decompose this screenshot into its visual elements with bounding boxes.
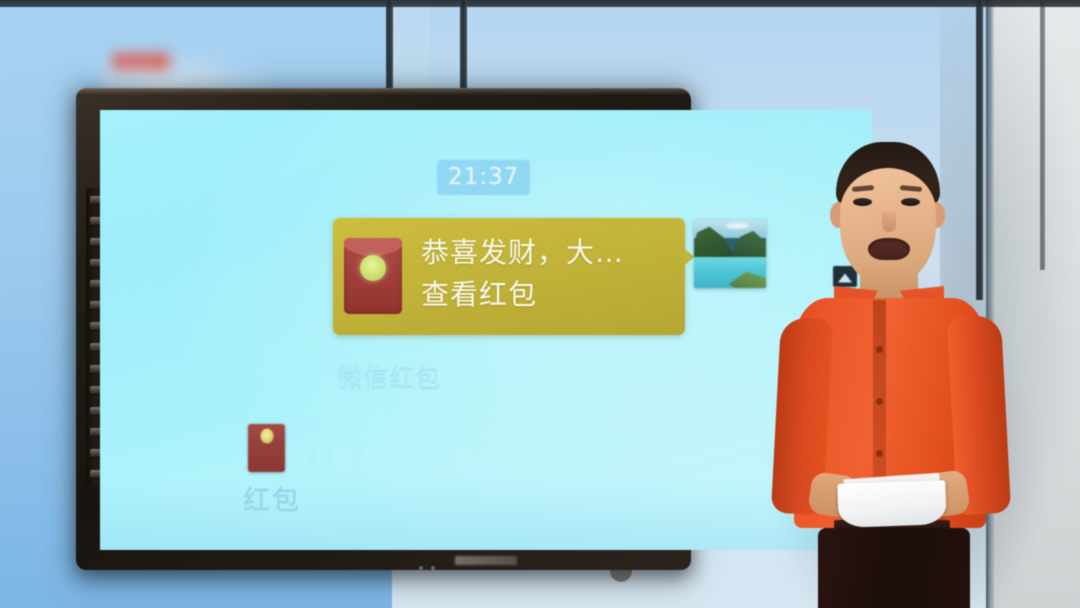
view-red-packet-label[interactable]: 查看红包 bbox=[421, 274, 675, 316]
wechat-red-packet-caption: 微信红包 bbox=[337, 358, 441, 394]
presenter-nose bbox=[882, 212, 896, 232]
watermark-bar bbox=[162, 54, 170, 69]
landscape-photo-thumbnail[interactable] bbox=[694, 220, 766, 288]
packet-seal bbox=[360, 255, 386, 281]
packet-flap bbox=[344, 238, 402, 256]
presenter-eye-left bbox=[853, 198, 872, 206]
presenter-mouth bbox=[868, 238, 910, 260]
frame-highlight bbox=[76, 88, 691, 95]
held-papers bbox=[837, 480, 946, 528]
chat-message-row[interactable]: 恭喜发财，大… 查看红包 bbox=[333, 218, 685, 335]
shirt-button bbox=[876, 398, 883, 405]
video-frame: 21:37 恭喜发财，大… 查看红包 微信红包 红包是什么意思 红包 bbox=[0, 0, 1080, 608]
chat-timestamp: 21:37 bbox=[437, 160, 530, 195]
watermark-bar bbox=[148, 54, 161, 69]
red-packet-icon bbox=[344, 238, 402, 314]
red-packet-icon-small bbox=[248, 424, 285, 472]
red-packet-label: 红包 bbox=[243, 478, 301, 517]
status-led bbox=[419, 566, 423, 570]
watermark-bar bbox=[131, 54, 144, 69]
message-greeting: 恭喜发财，大… bbox=[421, 232, 675, 274]
packet-seal-small bbox=[260, 429, 273, 444]
red-packet-message-bubble[interactable]: 恭喜发财，大… 查看红包 bbox=[333, 218, 685, 335]
watermark-bar bbox=[114, 54, 127, 69]
presenter-eye-right bbox=[901, 198, 920, 206]
ceiling-strip bbox=[0, 0, 1080, 7]
faint-background-text: 红包是什么意思 bbox=[300, 437, 510, 476]
instructor bbox=[760, 140, 1060, 608]
shirt-button bbox=[876, 450, 883, 457]
shirt-button bbox=[876, 346, 883, 353]
status-led bbox=[431, 566, 435, 570]
thumbnail-cloud bbox=[726, 223, 749, 229]
whiteboard-brand-logo bbox=[455, 556, 517, 565]
message-text-group: 恭喜发财，大… 查看红包 bbox=[421, 232, 675, 316]
presenter-trousers bbox=[818, 528, 970, 608]
